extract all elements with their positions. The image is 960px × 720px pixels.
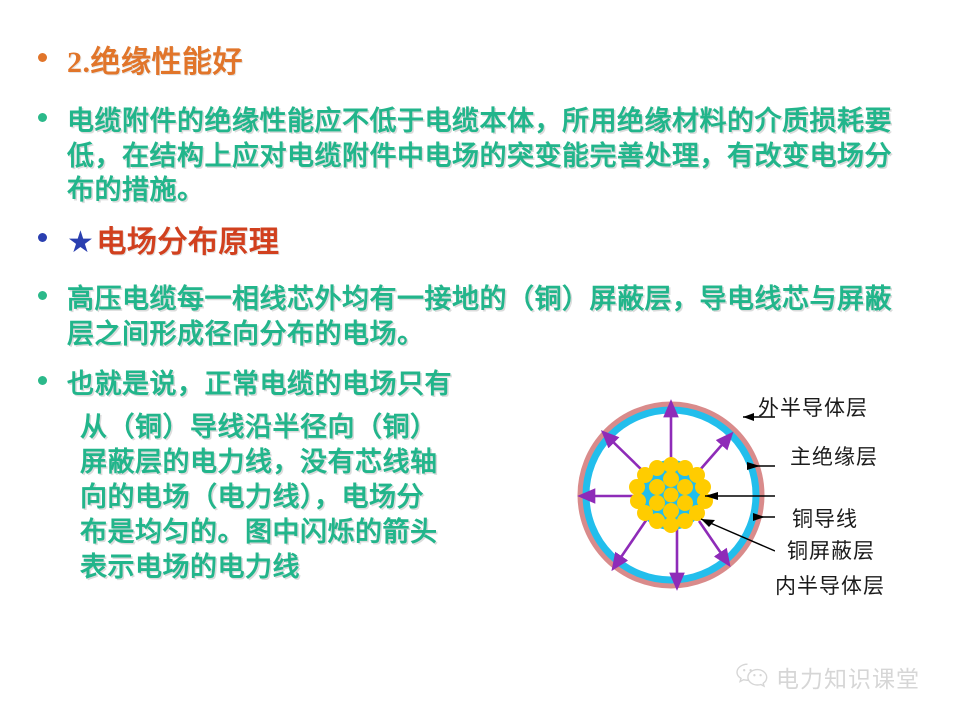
- indented-paragraph: 从（铜）导线沿半径向（铜） 屏蔽层的电力线，没有芯线轴 向的电场（电力线），电场…: [80, 410, 580, 585]
- bullet-item-2: 电缆附件的绝缘性能应不低于电缆本体，所用绝缘材料的介质损耗要低，在结构上应对电缆…: [38, 104, 918, 208]
- label-outer-semiconductor-layer: 外半导体层: [758, 392, 868, 422]
- indented-line-4: 布是均匀的。图中闪烁的箭头: [80, 515, 580, 550]
- label-main-insulation-layer: 主绝缘层: [790, 441, 878, 471]
- label-inner-semiconductor-layer: 内半导体层: [775, 570, 885, 600]
- star-icon: ★: [67, 226, 94, 259]
- bullet-marker-blue: [38, 233, 47, 242]
- indented-line-2: 屏蔽层的电力线，没有芯线轴: [80, 445, 580, 480]
- label-copper-conductor: 铜导线: [792, 503, 858, 533]
- heading-field-distribution: ★电场分布原理: [67, 224, 598, 262]
- paragraph-shield-layer: 高压电缆每一相线芯外均有一接地的（铜）屏蔽层，导电线芯与屏蔽层之间形成径向分布的…: [67, 282, 918, 351]
- indented-line-1: 从（铜）导线沿半径向（铜）: [80, 410, 580, 445]
- label-copper-shield-layer: 铜屏蔽层: [787, 535, 875, 565]
- watermark-text: 电力知识课堂: [776, 660, 920, 694]
- bullet-item-4: 高压电缆每一相线芯外均有一接地的（铜）屏蔽层，导电线芯与屏蔽层之间形成径向分布的…: [38, 282, 918, 351]
- cable-cross-section-diagram: [575, 383, 775, 608]
- bullet-marker-teal-2: [38, 291, 47, 300]
- paragraph-normal-cable: 也就是说，正常电缆的电场只有: [67, 367, 598, 402]
- bullet-marker-teal: [38, 113, 47, 122]
- bullet-item-1: 2.绝缘性能好: [38, 44, 598, 82]
- indented-line-3: 向的电场（电力线），电场分: [80, 480, 580, 515]
- indented-line-5: 表示电场的电力线: [80, 550, 580, 585]
- bullet-item-3: ★电场分布原理: [38, 224, 598, 262]
- arrowhead-outer-semiconductor: [743, 413, 754, 421]
- bullet-marker-orange: [38, 53, 47, 62]
- paragraph-insulation: 电缆附件的绝缘性能应不低于电缆本体，所用绝缘材料的介质损耗要低，在结构上应对电缆…: [67, 104, 918, 208]
- bullet-item-5: 也就是说，正常电缆的电场只有: [38, 367, 598, 402]
- wechat-icon: [735, 662, 769, 693]
- slide-title: 2.绝缘性能好: [67, 44, 598, 82]
- heading-field-distribution-label: 电场分布原理: [96, 226, 279, 259]
- slide-canvas: 2.绝缘性能好 电缆附件的绝缘性能应不低于电缆本体，所用绝缘材料的介质损耗要低，…: [0, 0, 960, 720]
- watermark: 电力知识课堂: [735, 660, 920, 694]
- bullet-marker-teal-3: [38, 376, 47, 385]
